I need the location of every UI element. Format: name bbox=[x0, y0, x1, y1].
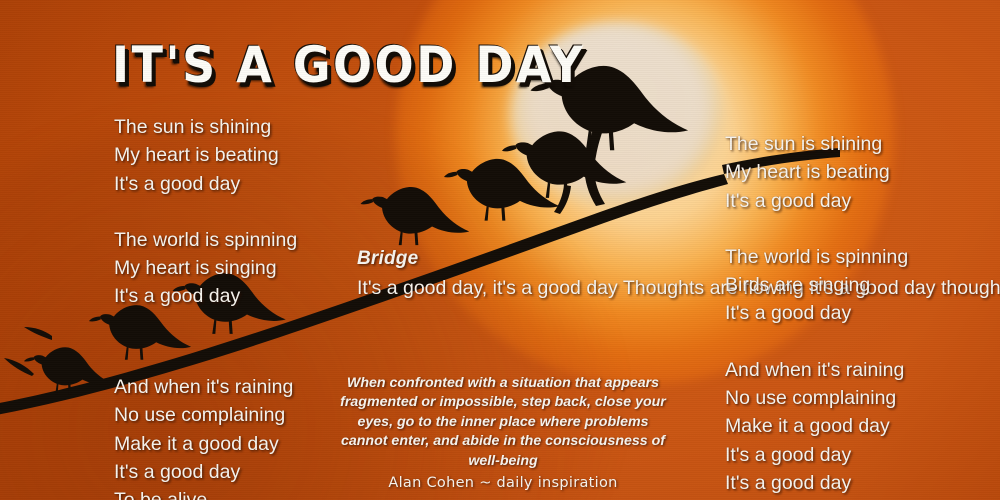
lyrics-column-left-lower: And when it's raining No use complaining… bbox=[114, 373, 293, 500]
lyric-line: My heart is beating bbox=[725, 158, 908, 186]
lyric-line: No use complaining bbox=[725, 384, 908, 412]
lyrics-column-left: The sun is shining My heart is beating I… bbox=[114, 113, 297, 311]
lyric-line: It's a good day, it's a good day bbox=[357, 277, 618, 299]
lyric-line: The world is spinning bbox=[114, 226, 297, 254]
lyric-stanza: The world is spinning Birds are singing … bbox=[725, 243, 908, 328]
lyric-stanza: The sun is shining My heart is beating I… bbox=[114, 113, 297, 198]
lyric-line: My heart is singing bbox=[114, 254, 297, 282]
lyric-line: The sun is shining bbox=[114, 113, 297, 141]
lyric-line: Birds are singing bbox=[725, 271, 908, 299]
lyric-line: It's a good day bbox=[114, 282, 297, 310]
lyric-line: It's a good day bbox=[725, 299, 908, 327]
lyric-line: Make it a good day bbox=[725, 412, 908, 440]
lyric-line: It's a good day bbox=[725, 187, 908, 215]
lyric-line: It's a good day bbox=[114, 458, 293, 486]
slide-canvas: IT'S A GOOD DAY The sun is shining My he… bbox=[0, 0, 1000, 500]
lyric-line: The world is spinning bbox=[725, 243, 908, 271]
lyric-line: And when it's raining bbox=[114, 373, 293, 401]
lyrics-column-right: The sun is shining My heart is beating I… bbox=[725, 130, 908, 500]
page-title: IT'S A GOOD DAY bbox=[112, 36, 586, 94]
quote-block: When confronted with a situation that ap… bbox=[338, 374, 668, 493]
lyric-line: No use complaining bbox=[114, 401, 293, 429]
lyric-line: It's a good day bbox=[114, 170, 297, 198]
lyric-line: The sun is shining bbox=[725, 130, 908, 158]
quote-line: When confronted with a situation that ap… bbox=[347, 375, 659, 391]
lyric-line: Make it a good day bbox=[114, 430, 293, 458]
lyric-stanza: The world is spinning My heart is singin… bbox=[114, 226, 297, 311]
lyric-line: To be alive bbox=[114, 486, 293, 500]
lyric-stanza: And when it's raining No use complaining… bbox=[114, 373, 293, 500]
lyric-stanza: The sun is shining My heart is beating I… bbox=[725, 130, 908, 215]
lyric-line: And when it's raining bbox=[725, 356, 908, 384]
lyric-stanza: And when it's raining No use complaining… bbox=[725, 356, 908, 500]
lyric-line: It's a good day bbox=[725, 469, 908, 497]
quote-line: fragmented or impossible, step back, clo… bbox=[340, 394, 631, 410]
lyric-line: It's a good day bbox=[725, 441, 908, 469]
quote-attribution: Alan Cohen ~ daily inspiration bbox=[338, 474, 668, 493]
lyric-line: My heart is beating bbox=[114, 141, 297, 169]
